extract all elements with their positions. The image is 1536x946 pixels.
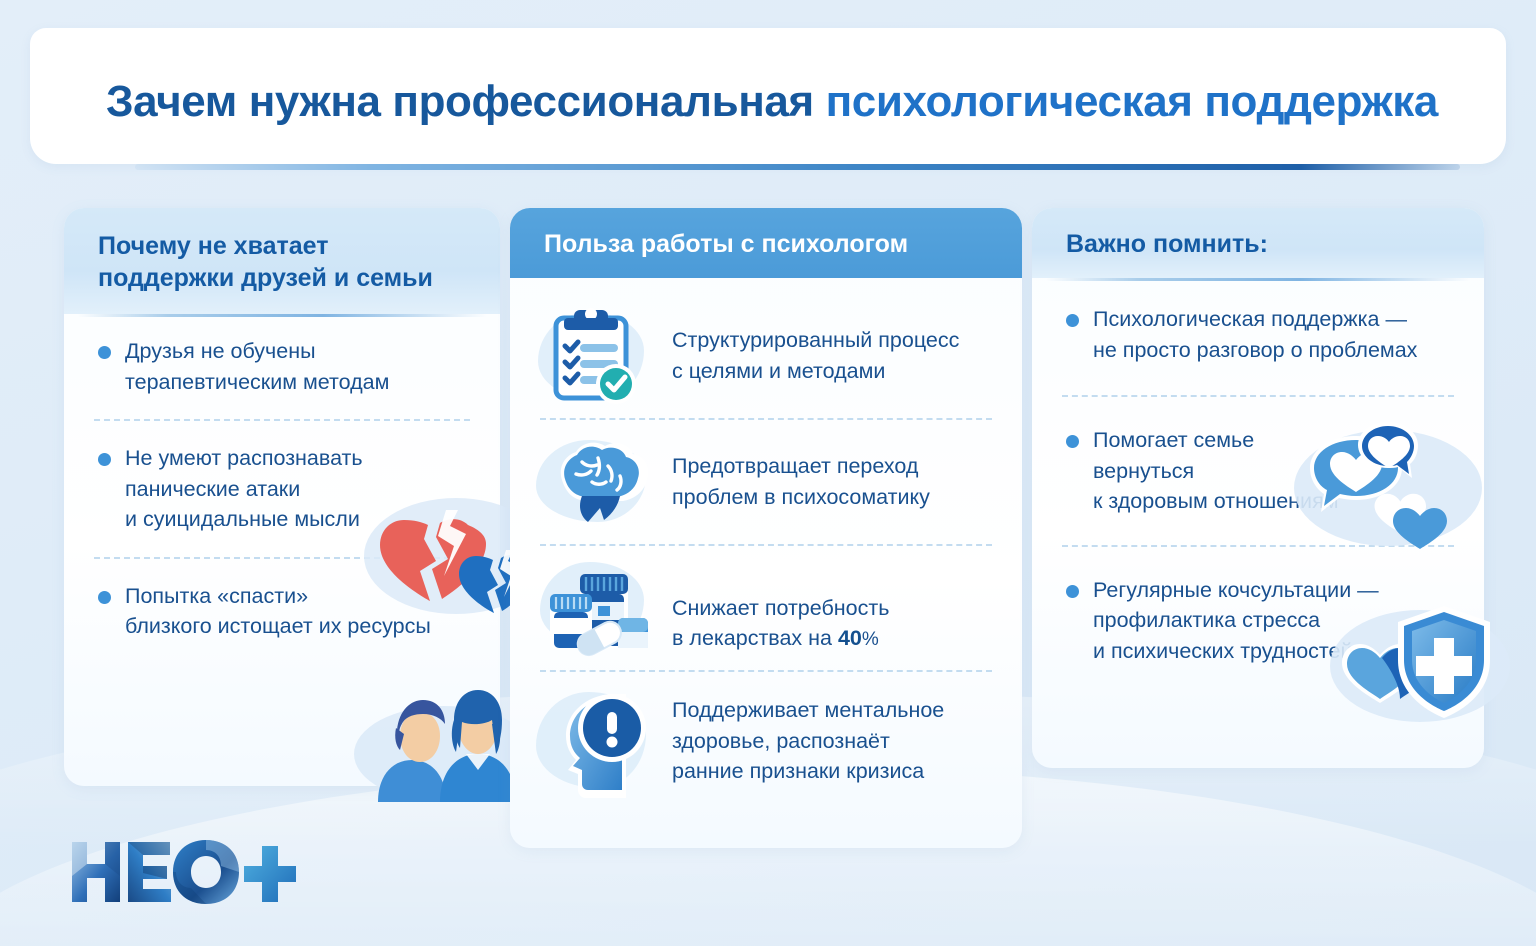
divider	[1062, 395, 1454, 397]
list-item-label-after: %	[862, 629, 879, 650]
left-column-header: Почему не хватает поддержки друзей и сем…	[64, 208, 500, 314]
divider	[540, 670, 992, 672]
right-bullet-list: Психологическая поддержка — не просто ра…	[1032, 304, 1484, 666]
list-item[interactable]: Структурированный процесс с целями и мет…	[510, 304, 1022, 408]
bullet-dot-icon	[1066, 314, 1079, 327]
list-item-label: Помогает семье вернуться к здоровым отно…	[1093, 425, 1339, 517]
list-item[interactable]: Предотвращает переход проблем в психосом…	[510, 430, 1022, 534]
brain-icon	[536, 430, 654, 534]
list-item[interactable]: Попытка «спасти» близкого истощает их ре…	[64, 581, 500, 642]
divider	[94, 419, 470, 421]
list-item-label: Регулярные кочсультации — профилактика с…	[1093, 575, 1379, 667]
medication-bottles-icon	[536, 556, 654, 660]
list-item-label: Друзья не обучены терапевтическим метода…	[125, 336, 389, 397]
divider	[1062, 545, 1454, 547]
bullet-dot-icon	[98, 591, 111, 604]
page-title: Зачем нужна профессиональная психологиче…	[106, 80, 1438, 124]
card-why-friends-insufficient: Почему не хватает поддержки друзей и сем…	[64, 208, 500, 786]
list-item-label: Поддерживает ментальное здоровье, распоз…	[672, 695, 944, 787]
right-header-underline	[1046, 278, 1470, 281]
list-item-label: Не умеют распознавать панические атаки и…	[125, 443, 363, 535]
page-title-part-1: Зачем нужна профессиональная	[106, 77, 826, 126]
header-band: Зачем нужна профессиональная психологиче…	[30, 28, 1506, 164]
infographic-canvas: Зачем нужна профессиональная психологиче…	[0, 0, 1536, 946]
left-bullet-list: Друзья не обучены терапевтическим метода…	[64, 336, 500, 642]
list-item-label: Снижает потребность в лекарствах на 40%	[672, 562, 889, 654]
card-important-to-remember: Важно помнить: Психологическая поддержка…	[1032, 208, 1484, 768]
divider	[540, 544, 992, 546]
list-item[interactable]: Снижает потребность в лекарствах на 40%	[510, 556, 1022, 660]
list-item-label: Попытка «спасти» близкого истощает их ре…	[125, 581, 431, 642]
list-item-label: Психологическая поддержка — не просто ра…	[1093, 304, 1417, 365]
left-header-underline	[78, 314, 486, 317]
middle-column-header: Польза работы с психологом	[510, 208, 1022, 278]
middle-column-header-label: Польза работы с психологом	[544, 228, 992, 260]
bullet-dot-icon	[98, 346, 111, 359]
head-alert-icon	[536, 682, 654, 800]
list-item[interactable]: Психологическая поддержка — не просто ра…	[1032, 304, 1484, 365]
list-item[interactable]: Друзья не обучены терапевтическим метода…	[64, 336, 500, 397]
bullet-dot-icon	[1066, 585, 1079, 598]
right-column-header: Важно помнить:	[1032, 208, 1484, 278]
clipboard-checklist-icon	[536, 304, 654, 408]
list-item-label: Структурированный процесс с целями и мет…	[672, 325, 959, 386]
divider	[540, 418, 992, 420]
divider	[94, 557, 470, 559]
list-item-value: 40	[838, 626, 862, 650]
bullet-dot-icon	[98, 453, 111, 466]
right-column-header-label: Важно помнить:	[1066, 228, 1454, 260]
bullet-dot-icon	[1066, 435, 1079, 448]
left-column-header-label: Почему не хватает поддержки друзей и сем…	[98, 230, 470, 294]
list-item[interactable]: Регулярные кочсультации — профилактика с…	[1032, 575, 1484, 667]
card-benefits-of-psychologist: Польза работы с психологом	[510, 208, 1022, 848]
list-item[interactable]: Не умеют распознавать панические атаки и…	[64, 443, 500, 535]
page-title-part-2: психологическая поддержка	[826, 77, 1438, 126]
title-divider	[135, 164, 1460, 170]
middle-benefit-list: Структурированный процесс с целями и мет…	[510, 304, 1022, 800]
list-item[interactable]: Помогает семье вернуться к здоровым отно…	[1032, 425, 1484, 517]
list-item-label: Предотвращает переход проблем в психосом…	[672, 451, 930, 512]
columns-container: Почему не хватает поддержки друзей и сем…	[0, 208, 1536, 868]
brand-logo-neo-plus[interactable]	[68, 836, 298, 910]
list-item[interactable]: Поддерживает ментальное здоровье, распоз…	[510, 682, 1022, 800]
